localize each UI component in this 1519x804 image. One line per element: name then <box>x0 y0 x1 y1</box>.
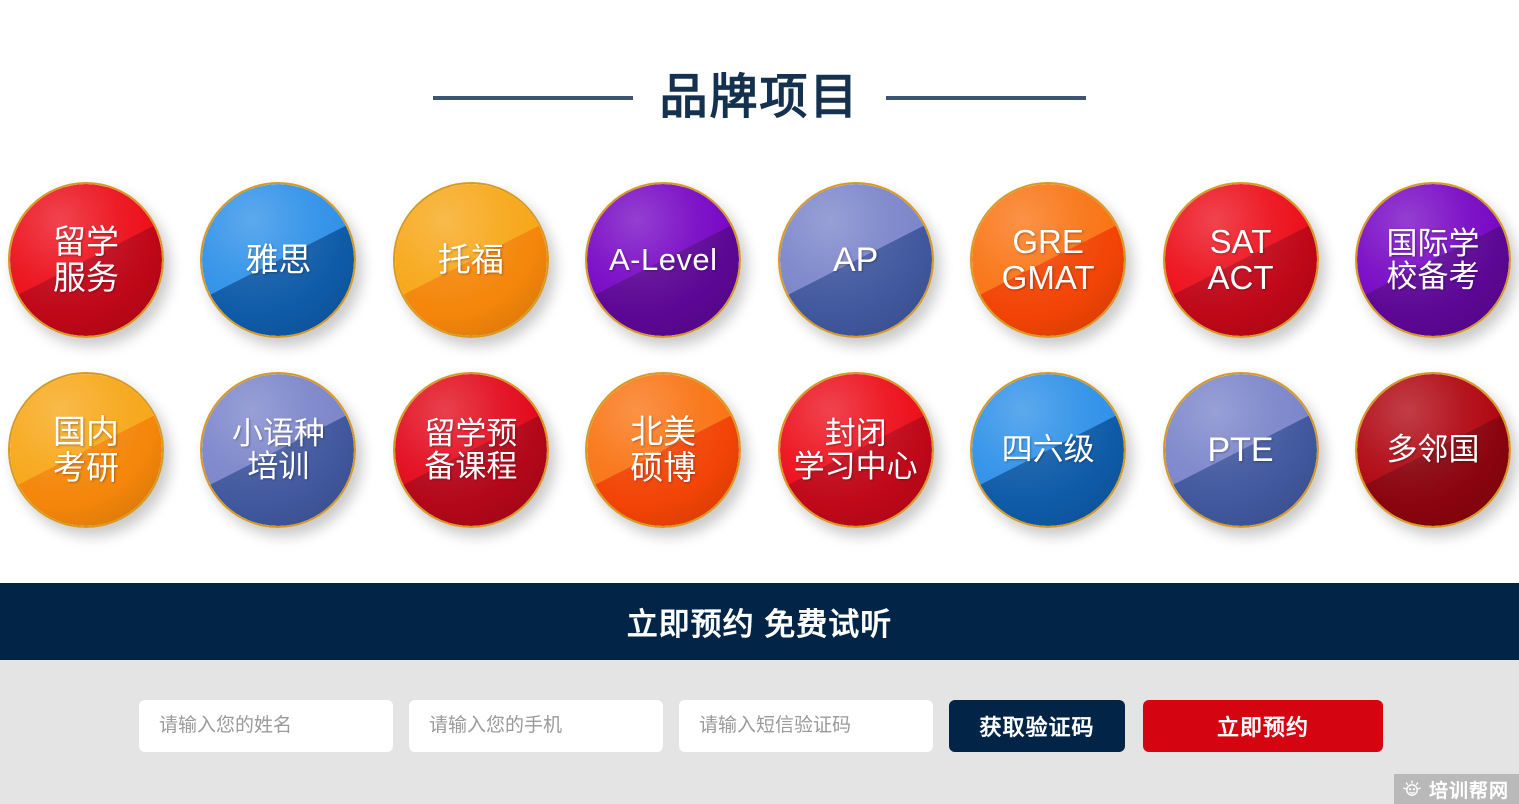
program-bubble-label: 托福 <box>430 242 512 278</box>
program-bubble-label: 留学预 备课程 <box>416 417 525 484</box>
title-rule-right <box>886 96 1086 100</box>
program-bubble-label: A-Level <box>601 243 726 276</box>
page-title-row: 品牌项目 <box>0 58 1519 138</box>
program-bubble-label: 封闭 学习中心 <box>786 417 926 484</box>
program-bubble[interactable]: 北美 硕博 <box>585 372 741 528</box>
program-bubble-label: 四六级 <box>994 433 1103 466</box>
program-bubble-label: 北美 硕博 <box>622 414 704 485</box>
booking-form: 获取验证码 立即预约 <box>139 700 1383 752</box>
program-bubble[interactable]: 国际学 校备考 <box>1355 182 1511 338</box>
booking-form-section: 获取验证码 立即预约 <box>0 660 1519 804</box>
submit-booking-button[interactable]: 立即预约 <box>1143 700 1383 752</box>
page-title: 品牌项目 <box>659 74 859 122</box>
program-bubble[interactable]: 小语种 培训 <box>200 372 356 528</box>
program-bubble-label: 国内 考研 <box>45 414 127 485</box>
program-bubble-label: 小语种 培训 <box>224 417 333 484</box>
program-bubble[interactable]: SAT ACT <box>1163 182 1319 338</box>
program-bubble[interactable]: 雅思 <box>200 182 356 338</box>
program-bubble[interactable]: 封闭 学习中心 <box>778 372 934 528</box>
program-bubble-label: PTE <box>1199 432 1281 469</box>
program-bubble[interactable]: 托福 <box>393 182 549 338</box>
program-bubble[interactable]: 四六级 <box>970 372 1126 528</box>
sun-face-icon <box>1402 779 1422 799</box>
program-bubble-label: SAT ACT <box>1200 224 1282 295</box>
program-bubble[interactable]: 国内 考研 <box>8 372 164 528</box>
program-bubble-label: 多邻国 <box>1378 433 1487 466</box>
program-bubble-label: 国际学 校备考 <box>1378 227 1487 294</box>
program-bubble[interactable]: GRE GMAT <box>970 182 1126 338</box>
program-row-2: 国内 考研小语种 培训留学预 备课程北美 硕博封闭 学习中心四六级PTE多邻国 <box>8 372 1511 528</box>
program-bubble-label: 留学 服务 <box>45 224 127 295</box>
program-bubble[interactable]: 留学 服务 <box>8 182 164 338</box>
program-bubble[interactable]: A-Level <box>585 182 741 338</box>
program-bubble-label: 雅思 <box>237 242 319 278</box>
program-grid: 留学 服务雅思托福A-LevelAPGRE GMATSAT ACT国际学 校备考… <box>8 182 1511 528</box>
program-bubble[interactable]: 留学预 备课程 <box>393 372 549 528</box>
cta-banner-text: 立即预约 免费试听 <box>627 599 893 644</box>
name-input[interactable] <box>139 700 393 752</box>
program-bubble-label: GRE GMAT <box>994 224 1103 295</box>
program-bubble[interactable]: 多邻国 <box>1355 372 1511 528</box>
sms-code-input[interactable] <box>679 700 933 752</box>
title-rule-left <box>433 96 633 100</box>
cta-banner: 立即预约 免费试听 <box>0 583 1519 660</box>
site-watermark: 培训帮网 <box>1394 774 1519 804</box>
program-bubble[interactable]: AP <box>778 182 934 338</box>
program-bubble[interactable]: PTE <box>1163 372 1319 528</box>
program-bubble-label: AP <box>825 242 886 279</box>
phone-input[interactable] <box>409 700 663 752</box>
watermark-label: 培训帮网 <box>1429 776 1509 803</box>
get-verification-code-button[interactable]: 获取验证码 <box>949 700 1125 752</box>
program-row-1: 留学 服务雅思托福A-LevelAPGRE GMATSAT ACT国际学 校备考 <box>8 182 1511 338</box>
